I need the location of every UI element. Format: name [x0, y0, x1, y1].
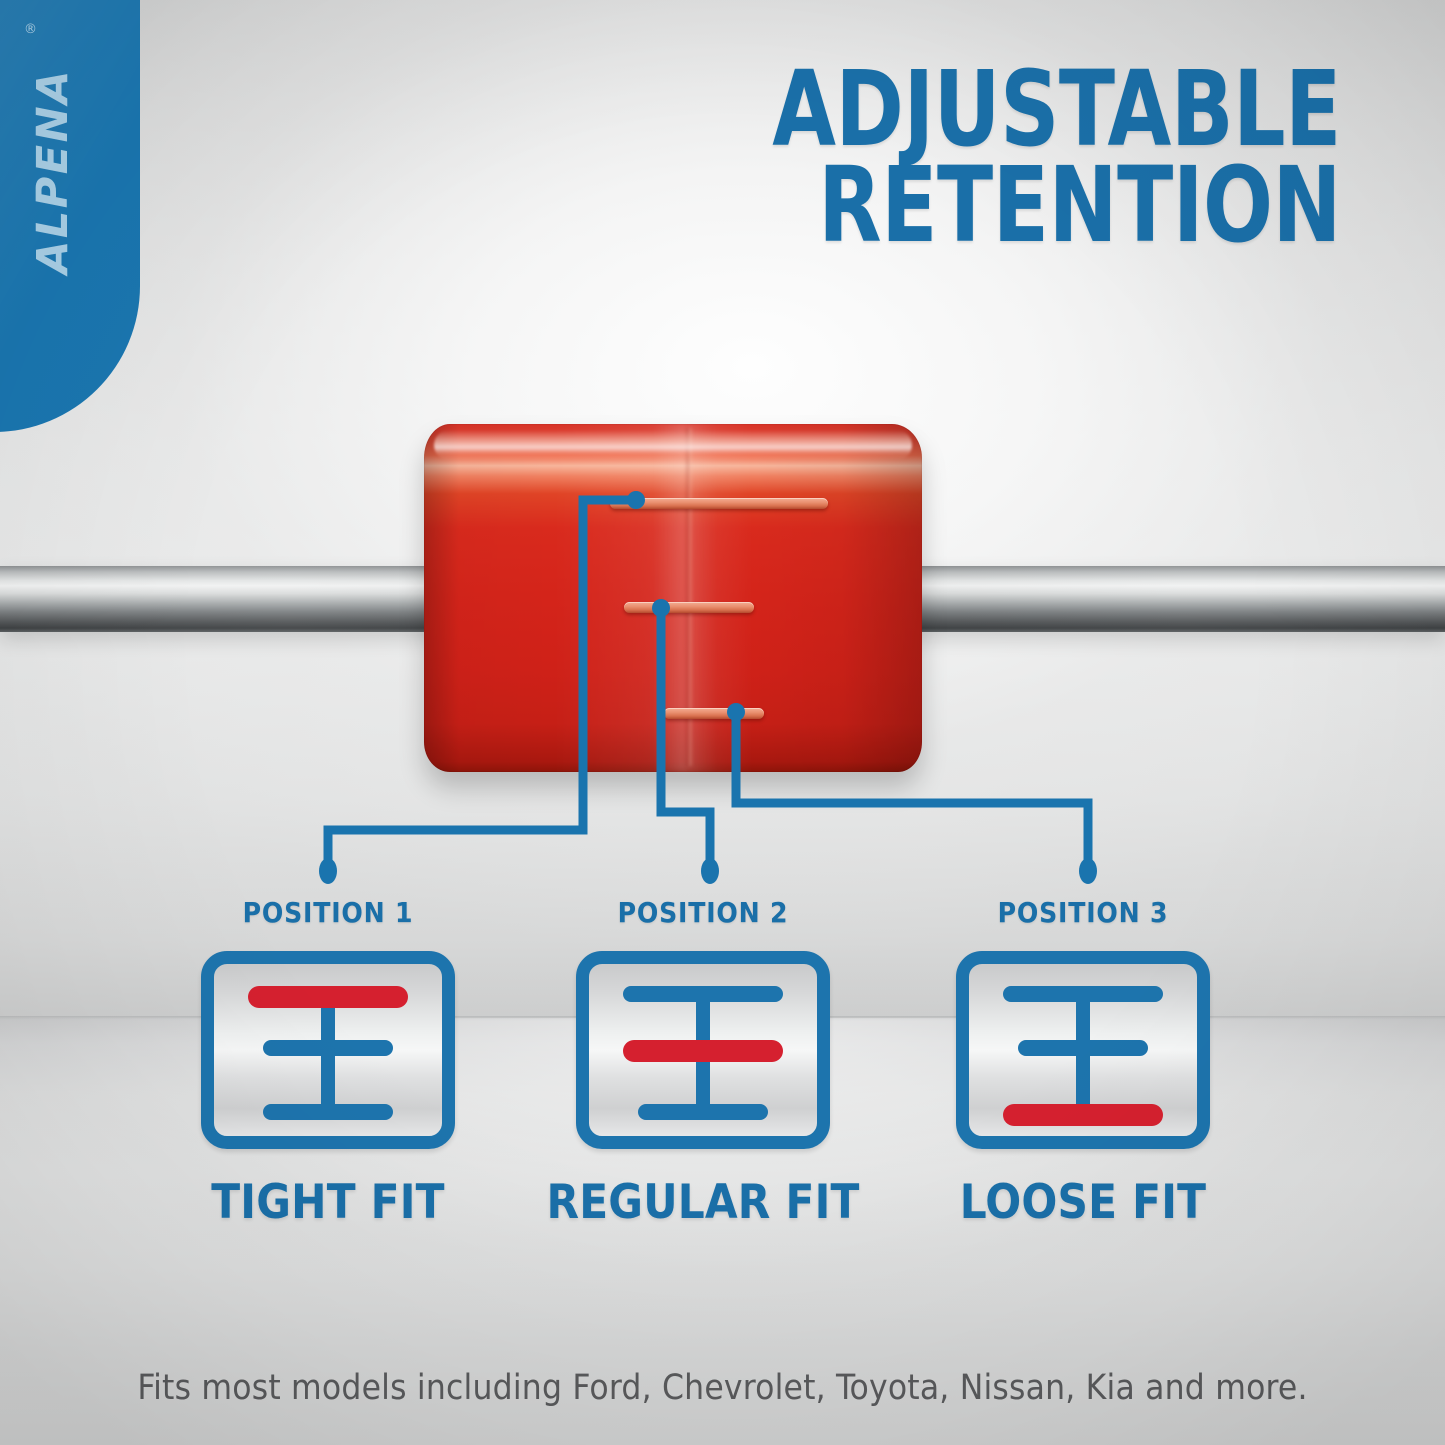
callout-dot-end-3	[1079, 858, 1097, 884]
fit-diagram-2-bar-top	[623, 986, 783, 1002]
position-column-1: POSITION 1 TIGHT FIT	[163, 896, 493, 1230]
position-label-2: POSITION 2	[538, 896, 868, 929]
callout-dot-origin-2	[652, 599, 670, 617]
fit-label-2: REGULAR FIT	[538, 1175, 868, 1230]
callout-dot-origin-3	[727, 703, 745, 721]
position-column-2: POSITION 2 REGULAR FIT	[538, 896, 868, 1230]
fit-diagram-2-inner	[589, 964, 817, 1136]
fit-diagram-3-bar-bottom	[1003, 1104, 1163, 1126]
position-label-3: POSITION 3	[918, 896, 1248, 929]
callout-line-position-2	[661, 608, 710, 866]
fit-diagram-2[interactable]	[576, 951, 830, 1149]
fit-diagram-1-inner	[214, 964, 442, 1136]
fit-diagram-3-inner	[969, 964, 1197, 1136]
callout-dot-end-2	[701, 858, 719, 884]
fit-diagram-2-bar-bottom	[638, 1104, 768, 1120]
callout-dot-origin-1	[627, 491, 645, 509]
fit-label-3: LOOSE FIT	[918, 1175, 1248, 1230]
fit-diagram-3-bar-top	[1003, 986, 1163, 1002]
fit-diagram-2-bar-middle	[623, 1040, 783, 1062]
fit-label-1: TIGHT FIT	[163, 1175, 493, 1230]
position-column-3: POSITION 3 LOOSE FIT	[918, 896, 1248, 1230]
brand-flag: ® ALPENA	[0, 0, 140, 432]
infographic-canvas: POSITION 1 TIGHT FIT POSITION 2 REGULAR …	[0, 0, 1445, 1445]
brand-wordmark: ALPENA	[28, 6, 78, 336]
position-label-1: POSITION 1	[163, 896, 493, 929]
fit-diagram-3[interactable]	[956, 951, 1210, 1149]
page-title-line-2: RETENTION	[672, 158, 1341, 254]
compatibility-footnote: Fits most models including Ford, Chevrol…	[0, 1368, 1445, 1408]
fit-diagram-1-bar-bottom	[263, 1104, 393, 1120]
callout-line-position-1	[328, 500, 636, 866]
fit-diagram-1-bar-middle	[263, 1040, 393, 1056]
callout-line-position-3	[736, 712, 1088, 866]
registered-trademark-icon: ®	[24, 22, 37, 37]
page-title: ADJUSTABLE RETENTION	[581, 62, 1341, 253]
callout-dot-end-1	[319, 858, 337, 884]
fit-diagram-1-bar-top	[248, 986, 408, 1008]
fit-diagram-1[interactable]	[201, 951, 455, 1149]
fit-diagram-3-bar-middle	[1018, 1040, 1148, 1056]
